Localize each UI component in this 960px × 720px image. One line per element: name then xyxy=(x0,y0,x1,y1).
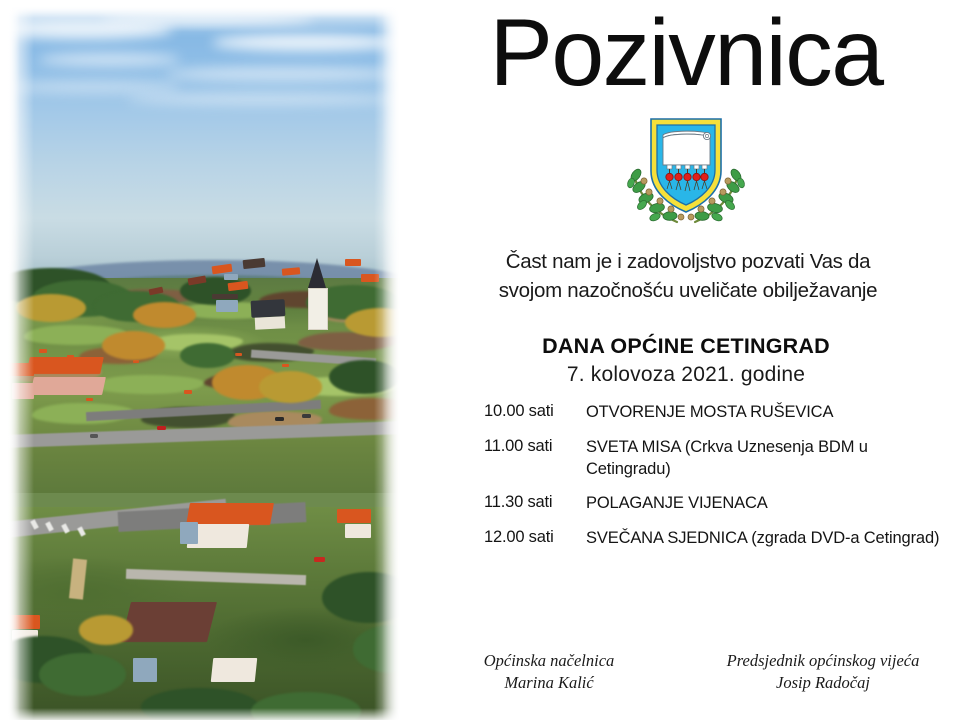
municipal-building-wall xyxy=(30,377,106,395)
cloud xyxy=(39,53,180,66)
schedule-time: 10.00 sati xyxy=(484,402,586,421)
apartment-side-wall xyxy=(180,522,198,544)
tree-cluster xyxy=(353,625,400,672)
schedule-description: SVETA MISA (Crkva Uznesenja BDM u Ceting… xyxy=(586,437,954,481)
church-tower xyxy=(308,288,328,330)
schedule-description: POLAGANJE VIJENACA xyxy=(586,493,954,515)
intro-line-1: Čast nam je i zadovoljstvo pozvati Vas d… xyxy=(424,247,952,276)
house-roof xyxy=(345,259,361,266)
church-nave-roof xyxy=(251,299,286,318)
schedule-time: 11.00 sati xyxy=(484,437,586,456)
parked-car xyxy=(157,426,166,430)
tree-cluster xyxy=(16,294,87,323)
parked-car xyxy=(90,434,98,438)
tree-cluster xyxy=(345,308,400,337)
schedule-description: SVEČANA SJEDNICA (zgrada DVD-a Cetingrad… xyxy=(586,528,954,550)
foreground-house-wall xyxy=(211,658,258,682)
schedule-description: OTVORENJE MOSTA RUŠEVICA xyxy=(586,402,954,424)
cloud xyxy=(126,93,400,106)
schedule-time: 12.00 sati xyxy=(484,528,586,547)
schedule-row: 11.00 sati SVETA MISA (Crkva Uznesenja B… xyxy=(484,437,954,481)
parked-car xyxy=(275,417,284,421)
tree-cluster xyxy=(102,331,165,360)
cloud xyxy=(165,67,400,81)
house-roof xyxy=(243,258,266,269)
invitation-poster: Pozivnica xyxy=(0,0,960,720)
signature-name: Josip Radočaj xyxy=(686,671,960,694)
main-road xyxy=(8,422,400,449)
parked-car xyxy=(302,414,311,418)
foreground-region xyxy=(8,507,400,720)
event-schedule: 10.00 sati OTVORENJE MOSTA RUŠEVICA 11.0… xyxy=(484,402,954,563)
dirt-path xyxy=(69,558,87,599)
signature-role: Predsjednik općinskog vijeća xyxy=(686,650,960,671)
house-wall xyxy=(345,524,371,538)
tree-cluster xyxy=(39,653,125,696)
signature-role: Općinska načelnica xyxy=(412,650,686,671)
tree-cluster xyxy=(259,371,322,403)
occasion-date: 7. kolovoza 2021. godine xyxy=(412,363,960,387)
foreground-house-side xyxy=(133,658,157,682)
village-core-region xyxy=(8,228,400,514)
coat-of-arms-icon xyxy=(611,113,761,235)
house-roof xyxy=(282,267,301,276)
tree-cluster xyxy=(322,572,400,624)
church-nave xyxy=(255,316,286,330)
signature-block: Općinska načelnica Marina Kalić Predsjed… xyxy=(412,650,960,695)
photograph-image xyxy=(8,6,400,720)
tree-cluster xyxy=(79,615,134,645)
schedule-row: 10.00 sati OTVORENJE MOSTA RUŠEVICA xyxy=(484,402,954,424)
apartment-roof xyxy=(186,503,274,525)
scroll-charge xyxy=(663,131,711,169)
municipal-building-roof xyxy=(8,363,34,376)
house-roof xyxy=(361,274,379,282)
municipal-building-wall xyxy=(12,383,34,399)
house-wall xyxy=(224,274,238,280)
church-spire xyxy=(308,258,326,288)
house-roof xyxy=(211,264,232,275)
schedule-row: 11.30 sati POLAGANJE VIJENACA xyxy=(484,493,954,515)
church-annex xyxy=(216,300,238,312)
invitation-content: Pozivnica xyxy=(412,0,960,720)
house-roof xyxy=(8,615,40,629)
church-annex-roof xyxy=(212,294,238,299)
tree-cluster xyxy=(133,302,196,328)
cloud xyxy=(102,12,314,26)
parked-car xyxy=(314,557,325,562)
page-title: Pozivnica xyxy=(412,6,960,101)
intro-line-2: svojom nazočnošću uveličate obilježavanj… xyxy=(424,276,952,305)
village-photograph xyxy=(0,0,412,720)
municipal-building-roof xyxy=(26,357,104,374)
tree-cluster xyxy=(141,688,259,720)
cloud xyxy=(8,81,180,92)
tree-cluster xyxy=(329,360,400,394)
signature-left: Općinska načelnica Marina Kalić xyxy=(412,650,686,695)
foreground-house-roof xyxy=(121,602,217,642)
coat-of-arms xyxy=(611,113,761,235)
tree-cluster xyxy=(180,343,235,369)
invitation-intro: Čast nam je i zadovoljstvo pozvati Vas d… xyxy=(424,247,952,305)
house-roof xyxy=(337,509,371,523)
occasion-heading: DANA OPĆINE CETINGRAD xyxy=(412,334,960,359)
signature-name: Marina Kalić xyxy=(412,671,686,694)
driveway xyxy=(125,568,306,584)
cloud xyxy=(212,34,400,51)
tree-cluster xyxy=(251,692,361,720)
schedule-time: 11.30 sati xyxy=(484,493,586,512)
schedule-row: 12.00 sati SVEČANA SJEDNICA (zgrada DVD-… xyxy=(484,528,954,550)
signature-right: Predsjednik općinskog vijeća Josip Radoč… xyxy=(686,650,960,695)
